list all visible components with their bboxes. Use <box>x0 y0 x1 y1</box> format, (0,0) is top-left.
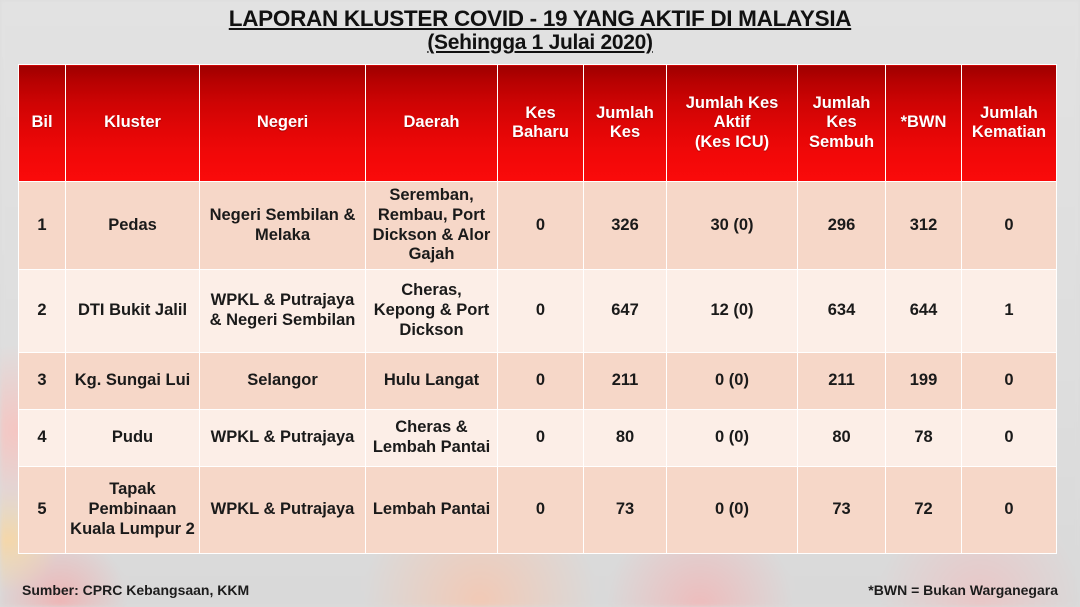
cell-kes-aktif: 0 (0) <box>667 467 798 554</box>
column-header-jumlah-kematian: Jumlah Kematian <box>962 65 1057 182</box>
cell-jumlah-kes: 647 <box>584 270 667 353</box>
cell-kes-baharu: 0 <box>498 182 584 270</box>
column-header-jumlah-kes-line-1: Jumlah <box>596 104 654 122</box>
table-row: 4 Pudu WPKL & Putrajaya Cheras & Lembah … <box>19 410 1057 467</box>
page-title: LAPORAN KLUSTER COVID - 19 YANG AKTIF DI… <box>0 6 1080 55</box>
cell-daerah: Cheras, Kepong & Port Dickson <box>366 270 498 353</box>
cell-kes-baharu: 0 <box>498 410 584 467</box>
table-row: 2 DTI Bukit Jalil WPKL & Putrajaya & Neg… <box>19 270 1057 353</box>
cell-negeri: Selangor <box>200 353 366 410</box>
cell-kes-baharu: 0 <box>498 467 584 554</box>
table-row: 1 Pedas Negeri Sembilan & Melaka Seremba… <box>19 182 1057 270</box>
cell-kes-baharu: 0 <box>498 353 584 410</box>
table-row: 3 Kg. Sungai Lui Selangor Hulu Langat 0 … <box>19 353 1057 410</box>
cell-negeri: WPKL & Putrajaya <box>200 410 366 467</box>
cell-bwn: 78 <box>886 410 962 467</box>
cell-kes-aktif: 0 (0) <box>667 410 798 467</box>
column-header-daerah: Daerah <box>366 65 498 182</box>
cell-kematian: 0 <box>962 410 1057 467</box>
cell-bil: 1 <box>19 182 66 270</box>
cell-kes-sembuh: 211 <box>798 353 886 410</box>
cell-kes-sembuh: 296 <box>798 182 886 270</box>
report-slide: LAPORAN KLUSTER COVID - 19 YANG AKTIF DI… <box>0 0 1080 607</box>
cell-bil: 2 <box>19 270 66 353</box>
column-header-jumlah-kes-sembuh-line-2: Kes <box>826 113 856 131</box>
column-header-bwn-line-1: *BWN <box>901 113 947 131</box>
table-header-row: Bil Kluster Negeri Daerah Kes Baharu Jum… <box>19 65 1057 182</box>
cell-jumlah-kes: 326 <box>584 182 667 270</box>
cell-bil: 4 <box>19 410 66 467</box>
cell-kes-baharu: 0 <box>498 270 584 353</box>
column-header-negeri: Negeri <box>200 65 366 182</box>
column-header-bil-line-1: Bil <box>31 113 52 131</box>
cell-kematian: 1 <box>962 270 1057 353</box>
bwn-legend-note: *BWN = Bukan Warganegara <box>868 582 1058 598</box>
cell-bwn: 72 <box>886 467 962 554</box>
column-header-bwn: *BWN <box>886 65 962 182</box>
footer: Sumber: CPRC Kebangsaan, KKM *BWN = Buka… <box>0 578 1080 607</box>
column-header-kes-baharu: Kes Baharu <box>498 65 584 182</box>
cell-kes-sembuh: 80 <box>798 410 886 467</box>
cell-negeri: WPKL & Putrajaya <box>200 467 366 554</box>
cell-kematian: 0 <box>962 182 1057 270</box>
cell-kematian: 0 <box>962 353 1057 410</box>
cell-kes-sembuh: 634 <box>798 270 886 353</box>
column-header-jumlah-kes: Jumlah Kes <box>584 65 667 182</box>
table-header-row-group: Bil Kluster Negeri Daerah Kes Baharu Jum… <box>19 65 1057 182</box>
cell-kluster: Pedas <box>66 182 200 270</box>
cell-kes-sembuh: 73 <box>798 467 886 554</box>
column-header-kluster-line-1: Kluster <box>104 113 161 131</box>
cell-kluster: Pudu <box>66 410 200 467</box>
cell-kluster: DTI Bukit Jalil <box>66 270 200 353</box>
column-header-jumlah-kes-aktif-line-3: (Kes ICU) <box>695 133 769 151</box>
cell-kematian: 0 <box>962 467 1057 554</box>
cell-kluster: Tapak Pembinaan Kuala Lumpur 2 <box>66 467 200 554</box>
column-header-kes-baharu-line-1: Kes <box>525 104 555 122</box>
cell-kluster: Kg. Sungai Lui <box>66 353 200 410</box>
table-body: 1 Pedas Negeri Sembilan & Melaka Seremba… <box>19 182 1057 554</box>
cell-bil: 3 <box>19 353 66 410</box>
column-header-kes-baharu-line-2: Baharu <box>512 123 569 141</box>
column-header-kluster: Kluster <box>66 65 200 182</box>
cell-kes-aktif: 0 (0) <box>667 353 798 410</box>
cell-jumlah-kes: 73 <box>584 467 667 554</box>
cell-negeri: Negeri Sembilan & Melaka <box>200 182 366 270</box>
column-header-jumlah-kes-sembuh: Jumlah Kes Sembuh <box>798 65 886 182</box>
cell-daerah: Lembah Pantai <box>366 467 498 554</box>
column-header-jumlah-kes-aktif-line-2: Aktif <box>714 113 751 131</box>
cell-daerah: Hulu Langat <box>366 353 498 410</box>
column-header-bil: Bil <box>19 65 66 182</box>
cell-kes-aktif: 30 (0) <box>667 182 798 270</box>
column-header-jumlah-kes-aktif: Jumlah Kes Aktif (Kes ICU) <box>667 65 798 182</box>
cell-bil: 5 <box>19 467 66 554</box>
column-header-daerah-line-1: Daerah <box>404 113 460 131</box>
active-cluster-table: Bil Kluster Negeri Daerah Kes Baharu Jum… <box>18 64 1057 554</box>
column-header-jumlah-kes-line-2: Kes <box>610 123 640 141</box>
cell-bwn: 644 <box>886 270 962 353</box>
column-header-jumlah-kes-sembuh-line-3: Sembuh <box>809 133 874 151</box>
cell-daerah: Cheras & Lembah Pantai <box>366 410 498 467</box>
cell-negeri: WPKL & Putrajaya & Negeri Sembilan <box>200 270 366 353</box>
title-main-line: LAPORAN KLUSTER COVID - 19 YANG AKTIF DI… <box>0 6 1080 31</box>
cell-jumlah-kes: 80 <box>584 410 667 467</box>
cell-daerah: Seremban, Rembau, Port Dickson & Alor Ga… <box>366 182 498 270</box>
cell-jumlah-kes: 211 <box>584 353 667 410</box>
cluster-table-container: Bil Kluster Negeri Daerah Kes Baharu Jum… <box>18 64 1056 554</box>
column-header-jumlah-kematian-line-1: Jumlah <box>980 104 1038 122</box>
title-sub-line: (Sehingga 1 Julai 2020) <box>0 31 1080 55</box>
cell-kes-aktif: 12 (0) <box>667 270 798 353</box>
source-note: Sumber: CPRC Kebangsaan, KKM <box>22 582 249 598</box>
column-header-jumlah-kes-sembuh-line-1: Jumlah <box>813 94 871 112</box>
cell-bwn: 199 <box>886 353 962 410</box>
cell-bwn: 312 <box>886 182 962 270</box>
column-header-jumlah-kematian-line-2: Kematian <box>972 123 1046 141</box>
column-header-jumlah-kes-aktif-line-1: Jumlah Kes <box>686 94 779 112</box>
column-header-negeri-line-1: Negeri <box>257 113 308 131</box>
table-row: 5 Tapak Pembinaan Kuala Lumpur 2 WPKL & … <box>19 467 1057 554</box>
